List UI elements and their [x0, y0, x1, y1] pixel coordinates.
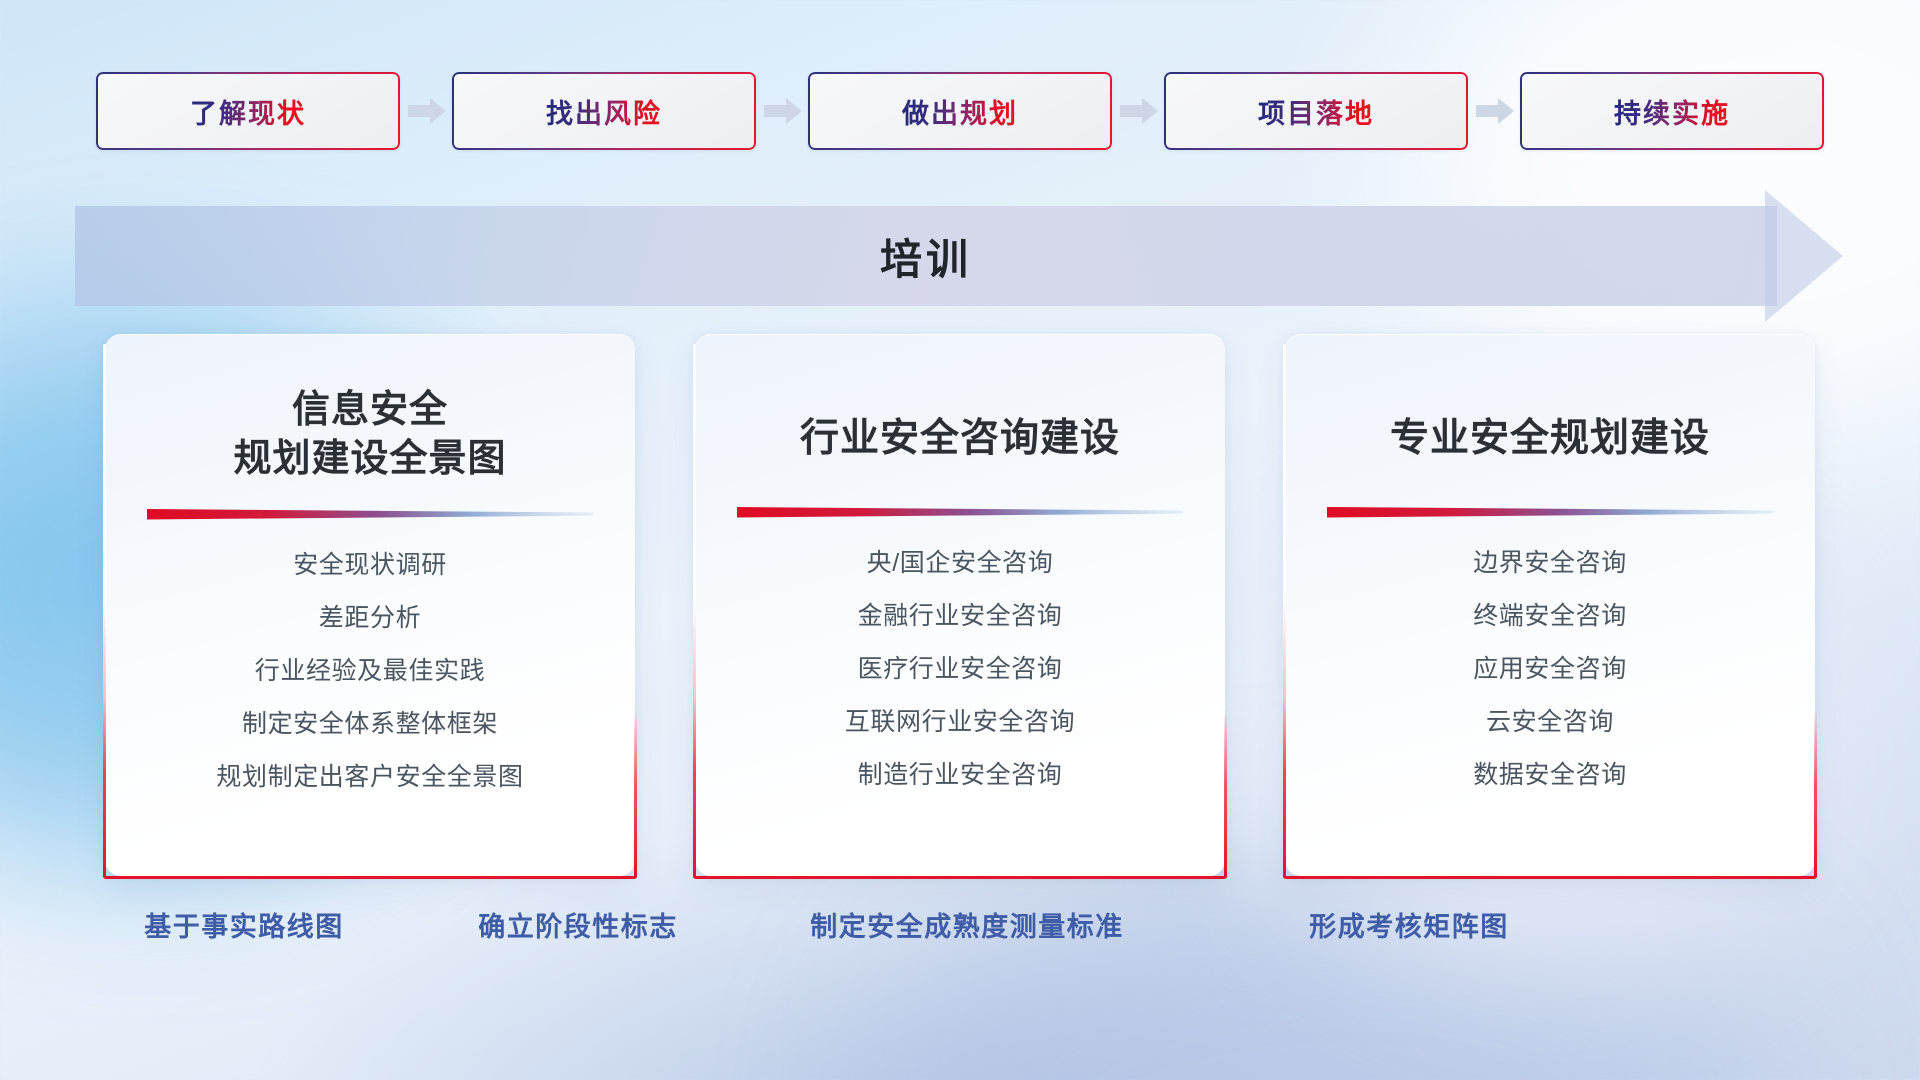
list-item: 云安全咨询: [1486, 702, 1614, 738]
step-arrow-icon-4: [1468, 72, 1520, 150]
card-2-title-line-1: 行业安全咨询建设: [800, 414, 1120, 465]
card-1-title-line-1: 信息安全: [233, 386, 506, 435]
step-box-3[interactable]: 做出规划: [808, 72, 1112, 150]
list-item: 制定安全体系整体框架: [242, 704, 498, 740]
card-3-list: 边界安全咨询 终端安全咨询 应用安全咨询 云安全咨询 数据安全咨询: [1473, 543, 1627, 791]
list-item: 行业经验及最佳实践: [255, 651, 485, 687]
step-arrow-icon-1: [400, 72, 452, 150]
footer-label-4: 形成考核矩阵图: [1309, 905, 1509, 944]
banner-title: 培训: [75, 206, 1777, 306]
step-box-4[interactable]: 项目落地: [1164, 72, 1468, 150]
step-label-2: 找出风险: [546, 92, 662, 131]
list-item: 差距分析: [319, 598, 421, 634]
list-item: 规划制定出客户安全全景图: [216, 757, 523, 793]
step-arrow-icon-2: [756, 72, 808, 150]
card-1-right-accent: [634, 710, 637, 878]
card-2[interactable]: 行业安全咨询建设 央/国企安全咨询 金融行业安全咨询 医疗行业安全咨: [695, 334, 1225, 876]
list-item: 央/国企安全咨询: [867, 543, 1054, 579]
list-item: 互联网行业安全咨询: [845, 702, 1075, 738]
card-2-title: 行业安全咨询建设: [800, 414, 1120, 465]
card-1-title-line-2: 规划建设全景图: [233, 435, 506, 484]
list-item: 医疗行业安全咨询: [858, 649, 1063, 685]
card-3-title: 专业安全规划建设: [1390, 414, 1710, 465]
list-item: 金融行业安全咨询: [858, 596, 1063, 632]
footer-label-2: 确立阶段性标志: [478, 905, 678, 944]
list-item: 应用安全咨询: [1473, 649, 1627, 685]
step-box-5[interactable]: 持续实施: [1520, 72, 1824, 150]
card-1-divider: [147, 507, 593, 521]
list-item: 制造行业安全咨询: [858, 755, 1063, 791]
list-item: 数据安全咨询: [1473, 755, 1627, 791]
step-label-5: 持续实施: [1614, 92, 1730, 131]
card-3-divider: [1327, 505, 1773, 519]
step-label-1: 了解现状: [190, 92, 306, 131]
card-3[interactable]: 专业安全规划建设 边界安全咨询 终端安全咨询 应用安全咨询: [1285, 334, 1815, 876]
footer-label-3: 制定安全成熟度测量标准: [810, 905, 1124, 944]
step-arrow-icon-3: [1112, 72, 1164, 150]
list-item: 安全现状调研: [293, 545, 447, 581]
card-row: 信息安全 规划建设全景图 安全现状调研 差距分析 行业经: [0, 334, 1920, 876]
list-item: 边界安全咨询: [1473, 543, 1627, 579]
card-3-title-line-1: 专业安全规划建设: [1390, 414, 1710, 465]
card-1-list: 安全现状调研 差距分析 行业经验及最佳实践 制定安全体系整体框架 规划制定出客户…: [216, 545, 523, 793]
card-1-title: 信息安全 规划建设全景图: [233, 386, 506, 485]
step-box-1[interactable]: 了解现状: [96, 72, 400, 150]
card-1[interactable]: 信息安全 规划建设全景图 安全现状调研 差距分析 行业经: [105, 334, 635, 876]
list-item: 终端安全咨询: [1473, 596, 1627, 632]
footer-label-row: 基于事实路线图 确立阶段性标志 制定安全成熟度测量标准 形成考核矩阵图: [0, 905, 1920, 965]
card-2-right-accent: [1224, 710, 1227, 878]
step-label-4: 项目落地: [1258, 92, 1374, 131]
training-banner: 培训: [75, 206, 1845, 306]
card-3-right-accent: [1814, 710, 1817, 878]
card-2-list: 央/国企安全咨询 金融行业安全咨询 医疗行业安全咨询 互联网行业安全咨询 制造行…: [845, 543, 1075, 791]
step-box-2[interactable]: 找出风险: [452, 72, 756, 150]
footer-label-1: 基于事实路线图: [144, 905, 344, 944]
process-step-flow: 了解现状 找出风险 做出规划 项目落地 持续实施: [0, 72, 1920, 150]
step-label-3: 做出规划: [902, 92, 1018, 131]
background-glow-bottom: [883, 860, 1783, 1080]
card-2-divider: [737, 505, 1183, 519]
